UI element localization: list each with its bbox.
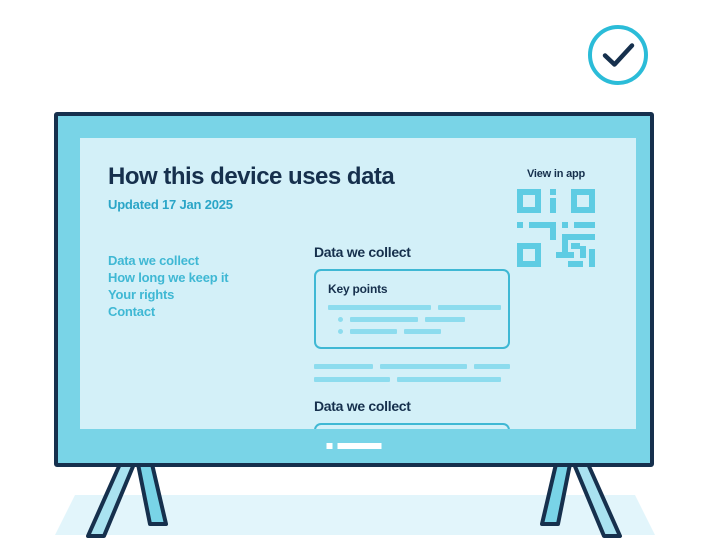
placeholder-bar <box>397 377 501 382</box>
view-in-app-label: View in app <box>504 168 608 180</box>
placeholder-row <box>314 377 510 382</box>
tv-frame: How this device uses data Updated 17 Jan… <box>54 112 654 467</box>
placeholder-bar <box>328 305 431 310</box>
qr-code-wrapper[interactable] <box>504 189 608 267</box>
placeholder-row <box>328 305 496 310</box>
screen-content: How this device uses data Updated 17 Jan… <box>80 138 636 429</box>
bullet-dot-icon <box>338 329 343 334</box>
nav-item-data-we-collect[interactable]: Data we collect <box>108 252 288 269</box>
tv-power-indicator <box>327 443 382 449</box>
indicator-dot-icon <box>327 443 333 449</box>
key-points-card-2: Key points <box>314 423 510 429</box>
tv-leg-left-inner <box>138 464 166 524</box>
indicator-bar-icon <box>338 443 382 449</box>
tv-stand-legs <box>54 462 654 542</box>
view-in-app-panel: View in app <box>504 168 608 267</box>
paragraph-placeholder-block <box>314 364 510 382</box>
placeholder-bar <box>438 305 501 310</box>
key-points-title-1: Key points <box>328 282 496 296</box>
nav-item-how-long-we-keep-it[interactable]: How long we keep it <box>108 269 288 286</box>
tv-leg-left-outer <box>88 464 134 536</box>
placeholder-bar <box>380 364 467 369</box>
nav-item-contact[interactable]: Contact <box>108 303 288 320</box>
key-points-card-1: Key points <box>314 269 510 349</box>
placeholder-bar <box>350 329 397 334</box>
placeholder-bar <box>425 317 465 322</box>
section-heading-2: Data we collect <box>314 398 510 414</box>
placeholder-row <box>328 317 496 322</box>
placeholder-bar <box>404 329 441 334</box>
placeholder-bar <box>350 317 418 322</box>
check-circle-ring <box>590 27 646 83</box>
tv-leg-right-outer <box>574 464 620 536</box>
bullet-dot-icon <box>338 317 343 322</box>
check-mark-icon <box>605 46 632 65</box>
page-nav: Data we collect How long we keep it Your… <box>108 252 288 320</box>
qr-code-icon[interactable] <box>517 189 595 267</box>
placeholder-row <box>314 364 510 369</box>
placeholder-bar <box>474 364 510 369</box>
tv-screen: How this device uses data Updated 17 Jan… <box>80 138 636 429</box>
nav-item-your-rights[interactable]: Your rights <box>108 286 288 303</box>
document-column: Data we collect Key points <box>314 244 510 429</box>
tv-leg-right-inner <box>542 464 570 524</box>
placeholder-bar <box>314 377 390 382</box>
section-heading-1: Data we collect <box>314 244 510 260</box>
placeholder-bar <box>314 364 373 369</box>
placeholder-row <box>328 329 496 334</box>
success-check-badge <box>586 23 650 87</box>
